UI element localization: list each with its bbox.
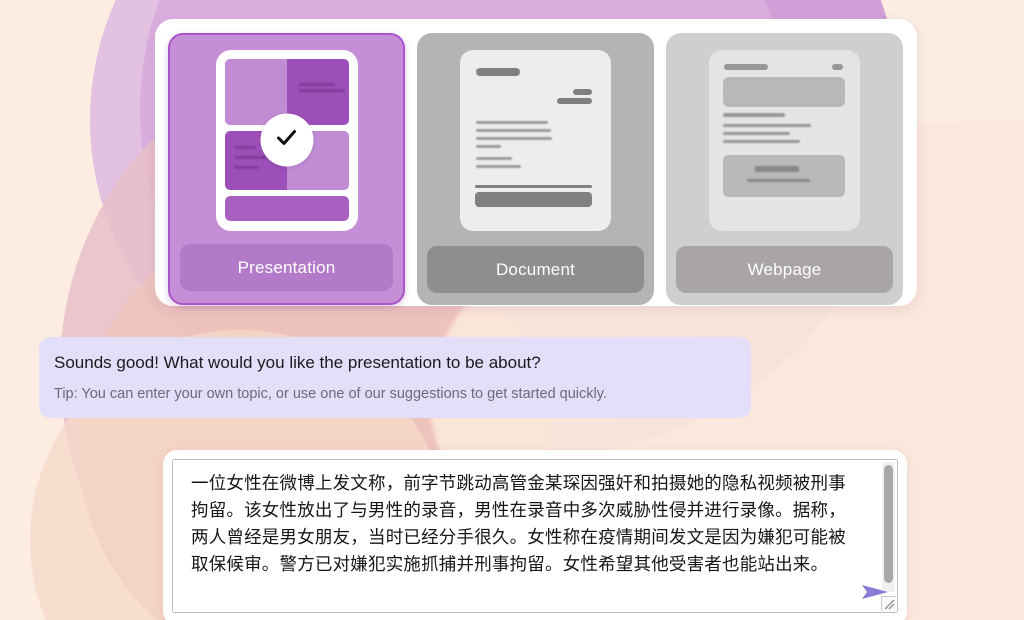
document-thumbnail (427, 43, 644, 237)
type-card-label-document[interactable]: Document (427, 246, 644, 293)
send-button[interactable] (861, 581, 891, 603)
send-arrow-icon (861, 590, 891, 607)
type-card-label-presentation[interactable]: Presentation (180, 244, 393, 291)
doc-footer-block (475, 192, 592, 207)
web-logo-bar (724, 64, 768, 70)
type-card-webpage[interactable]: Webpage (666, 33, 903, 305)
web-cta-panel (723, 155, 845, 197)
doc-meta-bar-2 (557, 98, 592, 104)
message-input[interactable]: 一位女性在微博上发文称，前字节跳动高管金某琛因强奸和拍摄她的隐私视频被刑事拘留。… (172, 459, 898, 613)
web-nav-bar (832, 64, 843, 70)
slide-row-bottom (225, 196, 349, 221)
doc-paragraph-2-placeholder (476, 157, 521, 168)
slide-cell-footer (225, 196, 349, 221)
type-card-presentation[interactable]: Presentation (168, 33, 405, 305)
doc-paragraph-1-placeholder (476, 121, 552, 148)
presentation-thumbnail (180, 45, 393, 235)
slide-title-placeholder-text (299, 83, 345, 92)
composer-scrollbar[interactable] (882, 462, 895, 592)
web-subheading-placeholder (723, 113, 785, 117)
check-icon (274, 125, 300, 156)
doc-divider-bar (475, 185, 592, 188)
output-type-picker-panel: Presentation (155, 19, 917, 306)
web-cta-caption-placeholder (747, 179, 810, 182)
web-hero-banner (723, 77, 845, 107)
message-input-value[interactable]: 一位女性在微博上发文称，前字节跳动高管金某琛因强奸和拍摄她的隐私视频被刑事拘留。… (191, 471, 856, 579)
doc-meta-bar-1 (573, 89, 592, 95)
web-cta-button-placeholder (755, 166, 799, 172)
doc-heading-bar (476, 68, 520, 76)
webpage-browser-frame (709, 50, 860, 231)
assistant-message-bubble: Sounds good! What would you like the pre… (39, 337, 751, 418)
webpage-thumbnail (676, 43, 893, 237)
assistant-tip-text: Tip: You can enter your own topic, or us… (54, 385, 734, 404)
type-card-label-webpage[interactable]: Webpage (676, 246, 893, 293)
composer-container: 一位女性在微博上发文称，前字节跳动高管金某琛因强奸和拍摄她的隐私视频被刑事拘留。… (163, 450, 907, 620)
assistant-message-text: Sounds good! What would you like the pre… (54, 352, 734, 375)
composer-scrollbar-thumb[interactable] (884, 465, 893, 583)
selected-check-badge (260, 114, 313, 167)
web-body-placeholder (723, 124, 811, 143)
type-card-document[interactable]: Document (417, 33, 654, 305)
document-page-frame (460, 50, 611, 231)
